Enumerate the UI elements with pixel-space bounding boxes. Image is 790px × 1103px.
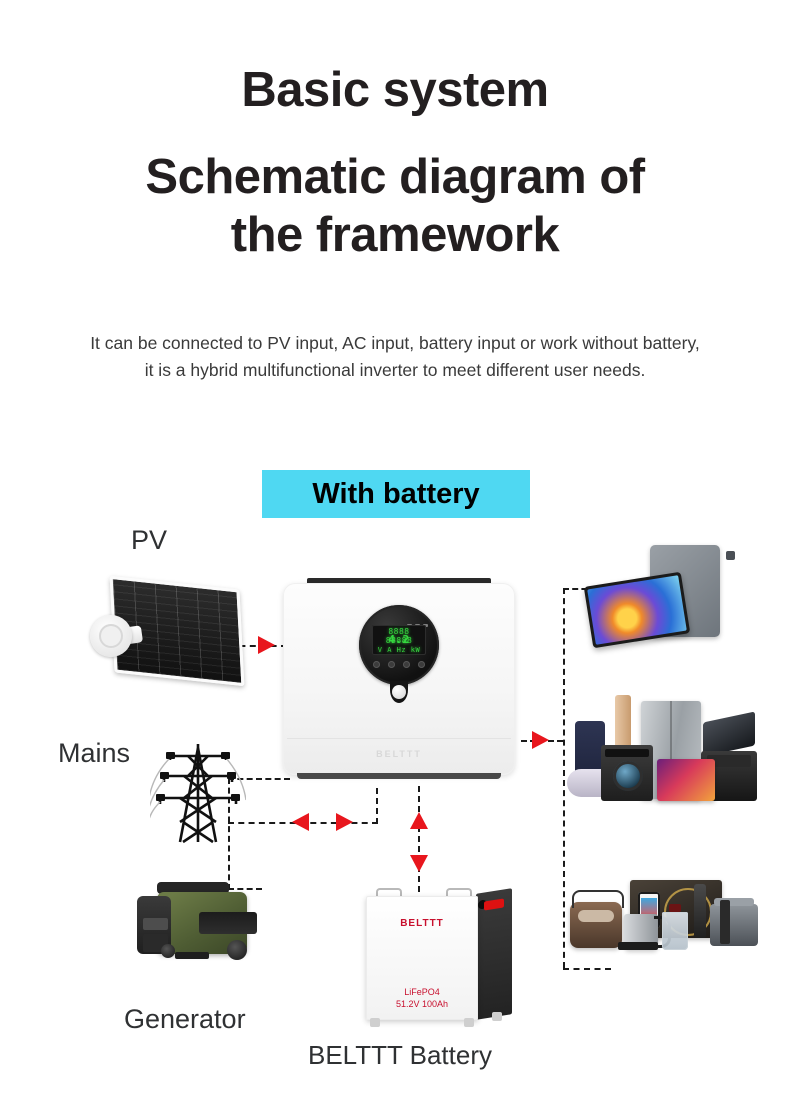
- button-enter-icon[interactable]: [418, 661, 425, 668]
- battery-spec-label: LiFePO4 51.2V 100Ah: [366, 986, 478, 1010]
- inverter-unit[interactable]: BELTTT 8888 88888 4.2 V A Hz kW: [283, 578, 515, 786]
- battery-brand-label: BELTTT: [366, 918, 478, 929]
- generator-vent-icon: [199, 912, 257, 934]
- mixer-whisk-icon: [720, 900, 730, 944]
- blender-jug-icon: [662, 912, 688, 950]
- inverter-seam: [287, 738, 511, 739]
- lcd-line3: V A Hz kW: [374, 646, 424, 655]
- label-pv: PV: [131, 525, 167, 556]
- generator-outlet-panel: [143, 918, 168, 930]
- arrow-ac-left-icon: [292, 813, 309, 831]
- washing-machine-icon: [601, 745, 653, 801]
- battery-leg: [370, 1018, 380, 1027]
- tablet-camera-icon: [726, 551, 735, 560]
- connector-battery-to-inverter: [418, 786, 420, 892]
- load-group-kitchen: [570, 880, 770, 975]
- page-title-line2a: Schematic diagram of: [0, 148, 790, 206]
- pv-mount-hub-icon: [99, 624, 123, 648]
- hand-mixer-icon: [694, 884, 706, 938]
- generator-wheel-icon: [161, 944, 175, 958]
- pv-solar-panel: [90, 583, 240, 683]
- button-esc-icon[interactable]: [373, 661, 380, 668]
- television-icon: [657, 759, 715, 801]
- arrow-battery-up-icon: [410, 812, 428, 829]
- button-up-icon[interactable]: [388, 661, 395, 668]
- battery-unit: BELTTT LiFePO4 51.2V 100Ah: [360, 888, 530, 1036]
- pylon-svg: [150, 742, 246, 844]
- page-title-line2: Schematic diagram of the framework: [0, 148, 790, 264]
- battery-rating: 51.2V 100Ah: [366, 998, 478, 1010]
- generator-foot: [175, 952, 209, 959]
- with-battery-badge-label: With battery: [312, 478, 479, 511]
- power-knob-cap-icon: [392, 685, 406, 699]
- generator-wheel-icon: [227, 940, 247, 960]
- battery-leg: [464, 1018, 474, 1027]
- generator-unit: [135, 880, 260, 975]
- inverter-lcd-screen: 8888 88888 4.2 V A Hz kW: [372, 625, 426, 655]
- inverter-brand-label: BELTTT: [283, 749, 515, 759]
- page-title-line1: Basic system: [0, 62, 790, 118]
- rice-cooker-handle-icon: [572, 890, 624, 908]
- connector-ac-riser: [376, 788, 378, 824]
- inverter-button-row[interactable]: [373, 661, 425, 668]
- battery-chemistry: LiFePO4: [366, 986, 478, 998]
- status-led-row: [407, 614, 433, 618]
- inverter-bottom-edge: [297, 773, 501, 779]
- stock-pot-icon: [710, 904, 758, 946]
- electric-kettle-icon: [624, 914, 658, 950]
- battery-front-face: BELTTT LiFePO4 51.2V 100Ah: [366, 896, 478, 1020]
- inverter-power-knob[interactable]: [390, 681, 408, 703]
- page-subtitle: It can be connected to PV input, AC inpu…: [85, 330, 705, 384]
- washer-door-icon: [613, 761, 643, 791]
- lcd-line2: 4.2: [374, 635, 424, 644]
- load-group-appliances: [565, 695, 775, 825]
- rice-cooker-icon: [570, 902, 622, 948]
- range-hood-icon: [703, 711, 755, 756]
- page-title-line3: the framework: [0, 206, 790, 264]
- label-generator: Generator: [124, 1004, 246, 1035]
- washer-control-panel-icon: [605, 749, 649, 757]
- battery-leg: [492, 1012, 502, 1021]
- label-battery: BELTTT Battery: [308, 1040, 492, 1071]
- inverter-control-panel[interactable]: 8888 88888 4.2 V A Hz kW: [359, 605, 439, 685]
- arrow-ac-right-icon: [336, 813, 353, 831]
- with-battery-badge: With battery: [262, 470, 530, 518]
- load-group-tablets: [580, 545, 770, 650]
- arrow-loads-icon: [532, 731, 549, 749]
- mains-pylon-icon: [150, 742, 246, 844]
- arrow-pv-to-inverter-icon: [258, 636, 275, 654]
- tablet-screen-wallpaper: [587, 575, 687, 645]
- label-mains: Mains: [58, 738, 130, 769]
- inverter-body: BELTTT 8888 88888 4.2 V A Hz kW: [283, 583, 515, 775]
- arrow-battery-down-icon: [410, 855, 428, 872]
- button-down-icon[interactable]: [403, 661, 410, 668]
